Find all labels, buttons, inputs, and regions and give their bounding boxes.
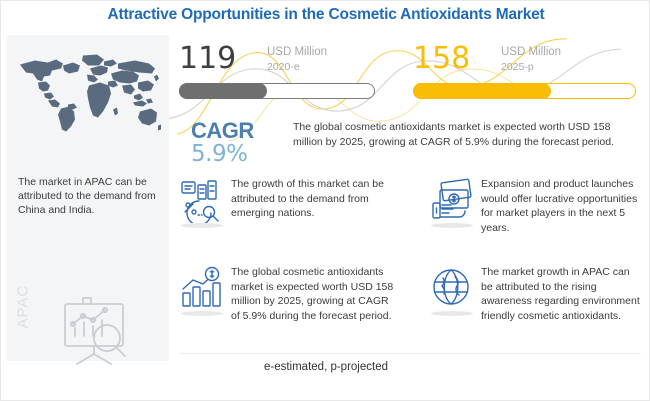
stat-year-2020: 2020-e [267,60,300,74]
card-shadow [181,223,223,228]
stat-2025: 158 USD Million 2025-p [413,43,638,103]
card-shadow [431,223,473,228]
stat-value-2020: 119 [179,43,236,75]
page-title: Attractive Opportunities in the Cosmetic… [1,6,650,24]
globe-icon [429,265,475,311]
stat-unit-2025: USD Million [501,45,561,60]
insight-card-apac-awareness: The market growth in APAC can be attribu… [429,265,644,345]
footer-note: e-estimated, p-projected [1,361,650,373]
sidebar-region-label: APAC [15,269,32,329]
insight-card-text: The market growth in APAC can be attribu… [481,265,644,323]
stat-value-2025: 158 [413,43,470,75]
insight-card-text: The global cosmetic antioxidants market … [231,265,399,323]
card-shadow [181,311,223,316]
stat-unit-2020: USD Million [267,45,327,60]
insight-card-expansion: Expansion and product launches would off… [429,177,644,249]
cagr-label: CAGR [191,119,287,142]
cagr-description: The global cosmetic antioxidants market … [293,120,641,149]
bar-chart-growth-dollar-icon [179,265,225,311]
infographic-container: Attractive Opportunities in the Cosmetic… [0,0,650,401]
insight-card-market-value: The global cosmetic antioxidants market … [179,265,399,337]
sidebar-description: The market in APAC can be attributed to … [18,175,162,217]
cagr-value: 5.9% [191,142,287,166]
insight-card-text: Expansion and product launches would off… [481,177,644,235]
sidebar-panel: The market in APAC can be attributed to … [7,35,169,361]
insight-card-emerging-nations: The growth of this market can be attribu… [179,177,399,237]
stat-year-2025: 2025-p [501,60,534,74]
progress-fill-2020 [179,83,267,99]
progress-track-2020 [179,83,375,99]
stat-2020: 119 USD Million 2020-e [179,43,394,103]
progress-fill-2025 [413,83,551,99]
cash-money-hand-icon [429,177,475,223]
progress-track-2025 [413,83,636,99]
card-shadow [431,311,473,316]
chart-presentation-magnifier-icon [55,290,133,368]
insight-card-text: The growth of this market can be attribu… [231,177,399,221]
analytics-percent-icon [179,177,225,223]
cagr-block: CAGR 5.9% [191,119,287,166]
footer-divider [179,353,641,354]
world-map-icon [15,47,161,139]
